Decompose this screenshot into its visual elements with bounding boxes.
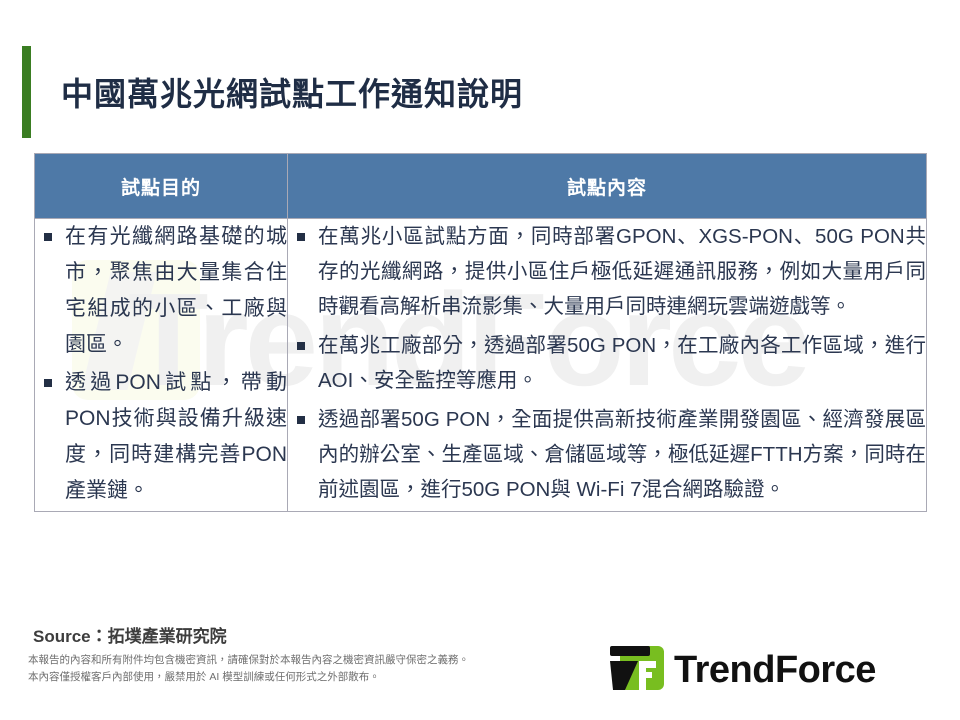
cell-pilot-purpose: 在有光纖網路基礎的城市，聚焦由大量集合住宅組成的小區、工廠與園區。 透過PON試… <box>35 219 288 512</box>
title-row: 中國萬兆光網試點工作通知說明 <box>0 46 523 138</box>
disclaimer-line-1: 本報告的內容和所有附件均包含機密資訊，請確保對於本報告內容之機密資訊嚴守保密之義… <box>28 652 469 669</box>
list-item: 在有光纖網路基礎的城市，聚焦由大量集合住宅組成的小區、工廠與園區。 <box>35 219 287 363</box>
list-item: 透過部署50G PON，全面提供高新技術產業開發園區、經濟發展區內的辦公室、生產… <box>288 402 926 507</box>
purpose-bullet-list: 在有光纖網路基礎的城市，聚焦由大量集合住宅組成的小區、工廠與園區。 透過PON試… <box>35 219 287 509</box>
cell-pilot-content: 在萬兆小區試點方面，同時部署GPON、XGS-PON、50G PON共存的光纖網… <box>288 219 927 512</box>
bullet-text: 在萬兆小區試點方面，同時部署GPON、XGS-PON、50G PON共存的光纖網… <box>318 219 926 324</box>
disclaimer-block: 本報告的內容和所有附件均包含機密資訊，請確保對於本報告內容之機密資訊嚴守保密之義… <box>28 652 469 686</box>
bullet-text: 透過部署50G PON，全面提供高新技術產業開發園區、經濟發展區內的辦公室、生產… <box>318 402 926 507</box>
table-header-row: 試點目的 試點內容 <box>35 154 927 219</box>
content-bullet-list: 在萬兆小區試點方面，同時部署GPON、XGS-PON、50G PON共存的光纖網… <box>288 219 926 507</box>
column-header-purpose: 試點目的 <box>35 154 288 219</box>
list-item: 透過PON試點，帶動PON技術與設備升級速度，同時建構完善PON產業鏈。 <box>35 365 287 509</box>
list-item: 在萬兆工廠部分，透過部署50G PON，在工廠內各工作區域，進行AOI、安全監控… <box>288 328 926 398</box>
list-item: 在萬兆小區試點方面，同時部署GPON、XGS-PON、50G PON共存的光纖網… <box>288 219 926 324</box>
title-accent-bar <box>22 46 31 138</box>
table-body-row: 在有光纖網路基礎的城市，聚焦由大量集合住宅組成的小區、工廠與園區。 透過PON試… <box>35 219 927 512</box>
column-header-content: 試點內容 <box>288 154 927 219</box>
bullet-text: 在萬兆工廠部分，透過部署50G PON，在工廠內各工作區域，進行AOI、安全監控… <box>318 328 926 398</box>
disclaimer-line-2: 本內容僅授權客戶內部使用，嚴禁用於 AI 模型訓練或任何形式之外部散布。 <box>28 669 469 686</box>
source-label: Source：拓墣產業研究院 <box>33 622 227 647</box>
trendforce-logo-mark <box>608 644 666 696</box>
trendforce-wordmark: TrendForce <box>674 651 876 689</box>
trendforce-logo: TrendForce <box>608 639 876 701</box>
pilot-program-table: 試點目的 試點內容 在有光纖網路基礎的城市，聚焦由大量集合住宅組成的小區、工廠與… <box>34 153 927 512</box>
bullet-text: 在有光纖網路基礎的城市，聚焦由大量集合住宅組成的小區、工廠與園區。 <box>65 219 287 363</box>
bullet-text: 透過PON試點，帶動PON技術與設備升級速度，同時建構完善PON產業鏈。 <box>65 365 287 509</box>
page-title: 中國萬兆光網試點工作通知說明 <box>61 69 523 115</box>
